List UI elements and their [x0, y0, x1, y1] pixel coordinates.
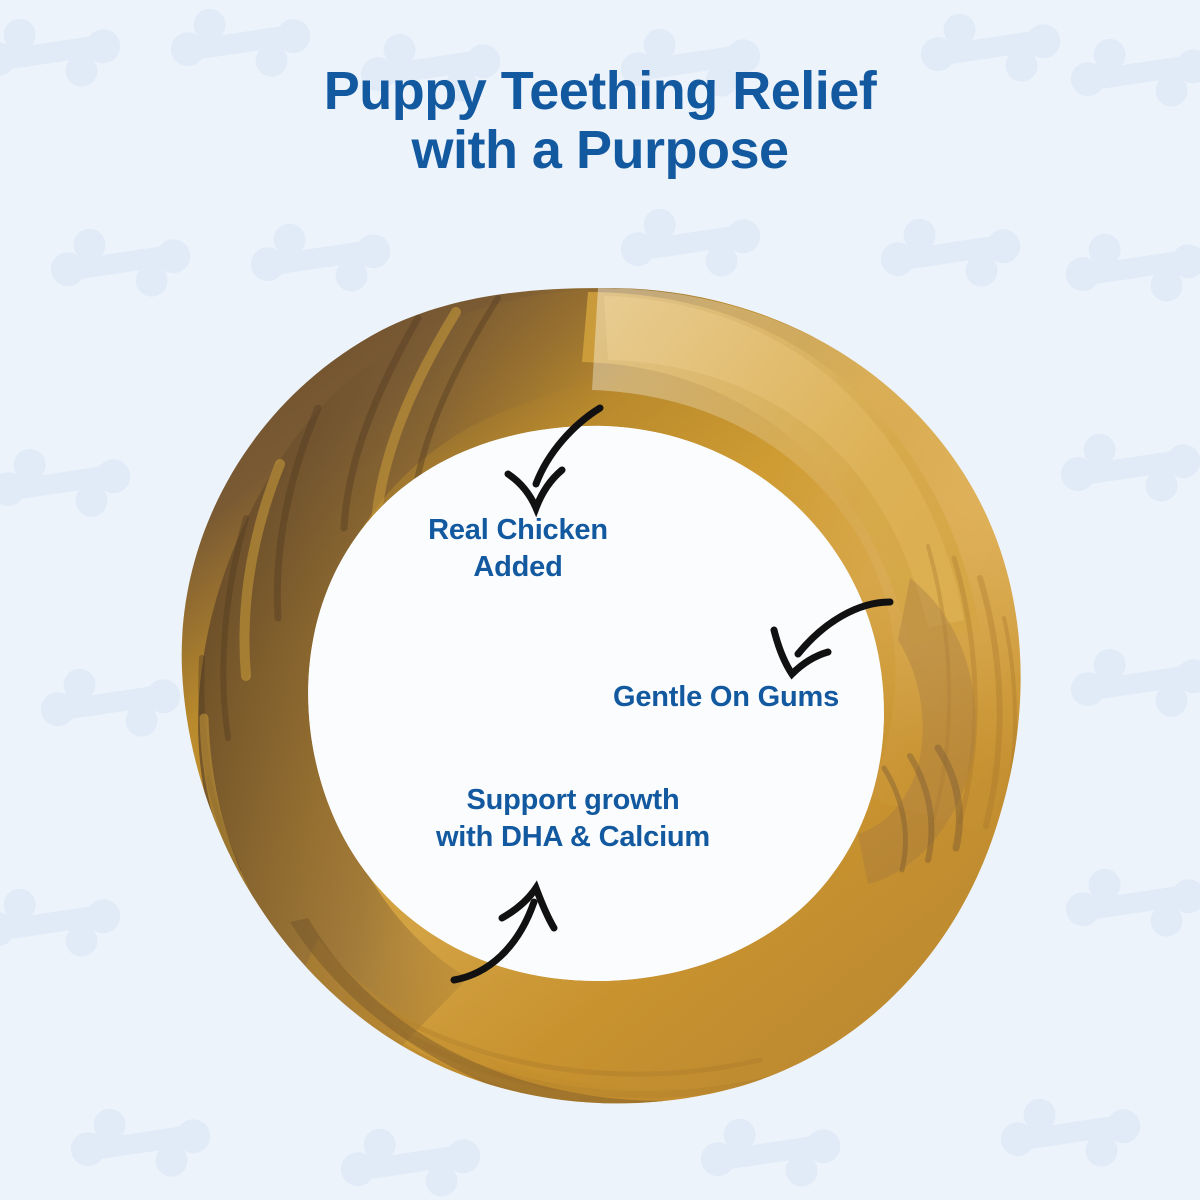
callout-line-1: Support growth	[368, 782, 778, 819]
callout-line-1: Real Chicken	[378, 512, 658, 549]
callout-support-growth: Support growth with DHA & Calcium	[368, 782, 778, 856]
callout-line-2: Added	[378, 549, 658, 586]
callout-line-1: Gentle On Gums	[566, 679, 886, 716]
callout-line-2: with DHA & Calcium	[368, 819, 778, 856]
headline: Puppy Teething Relief with a Purpose	[0, 62, 1200, 180]
callout-gentle-on-gums: Gentle On Gums	[566, 679, 886, 716]
promo-graphic: Puppy Teething Relief with a Purpose	[0, 0, 1200, 1200]
callout-real-chicken-added: Real Chicken Added	[378, 512, 658, 586]
headline-line-2: with a Purpose	[0, 121, 1200, 180]
headline-line-1: Puppy Teething Relief	[0, 62, 1200, 121]
